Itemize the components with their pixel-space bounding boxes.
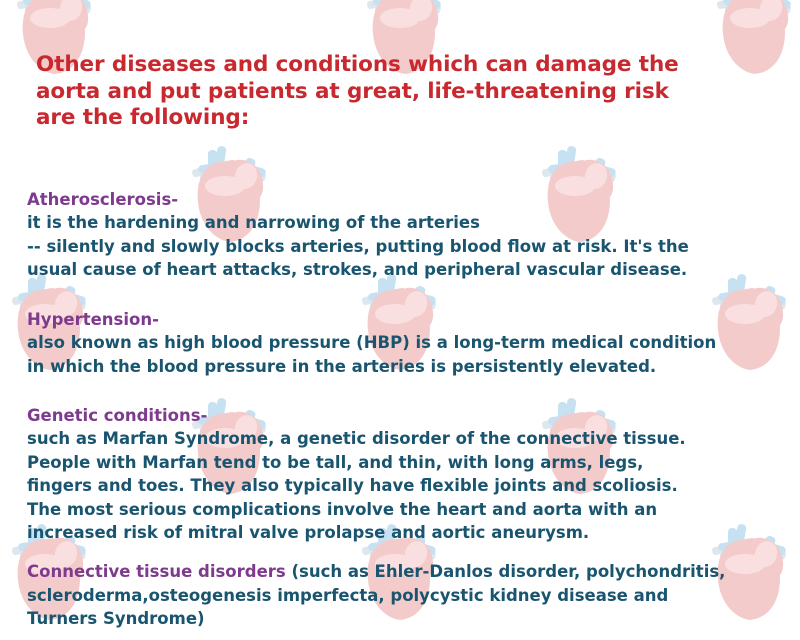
section-heading-connective-label: Connective tissue disorders (27, 562, 286, 581)
title-line-1: Other diseases and conditions which can … (36, 52, 762, 79)
section-body-line: also known as high blood pressure (HBP) … (27, 331, 779, 355)
section-body-line: -- silently and slowly blocks arteries, … (27, 235, 779, 259)
title-line-2: aorta and put patients at great, life-th… (36, 79, 762, 106)
section-heading-hypertension: Hypertension- (27, 308, 779, 331)
section-heading-connective: Connective tissue disorders (such as Ehl… (27, 560, 779, 584)
section-heading-genetic: Genetic conditions- (27, 404, 779, 427)
section-body-line: increased risk of mitral valve prolapse … (27, 521, 779, 545)
section-connective-tissue-disorders: Connective tissue disorders (such as Ehl… (27, 560, 779, 631)
section-heading-connective-detail: (such as Ehler-Danlos disorder, polychon… (286, 562, 726, 581)
section-body-line: such as Marfan Syndrome, a genetic disor… (27, 427, 779, 451)
section-body-line: it is the hardening and narrowing of the… (27, 211, 779, 235)
section-atherosclerosis: Atherosclerosis- it is the hardening and… (27, 188, 779, 282)
slide-canvas: Other diseases and conditions which can … (0, 0, 800, 640)
section-body-line: in which the blood pressure in the arter… (27, 355, 779, 379)
section-body-line: fingers and toes. They also typically ha… (27, 474, 779, 498)
section-hypertension: Hypertension- also known as high blood p… (27, 308, 779, 378)
title-line-3: are the following: (36, 105, 762, 132)
section-genetic-conditions: Genetic conditions- such as Marfan Syndr… (27, 404, 779, 545)
section-body-line: Turners Syndrome) (27, 607, 779, 631)
section-heading-atherosclerosis: Atherosclerosis- (27, 188, 779, 211)
section-body-line: The most serious complications involve t… (27, 498, 779, 522)
section-body-line: scleroderma,osteogenesis imperfecta, pol… (27, 584, 779, 608)
slide-title: Other diseases and conditions which can … (36, 52, 762, 132)
section-body-line: usual cause of heart attacks, strokes, a… (27, 258, 779, 282)
section-body-line: People with Marfan tend to be tall, and … (27, 451, 779, 475)
